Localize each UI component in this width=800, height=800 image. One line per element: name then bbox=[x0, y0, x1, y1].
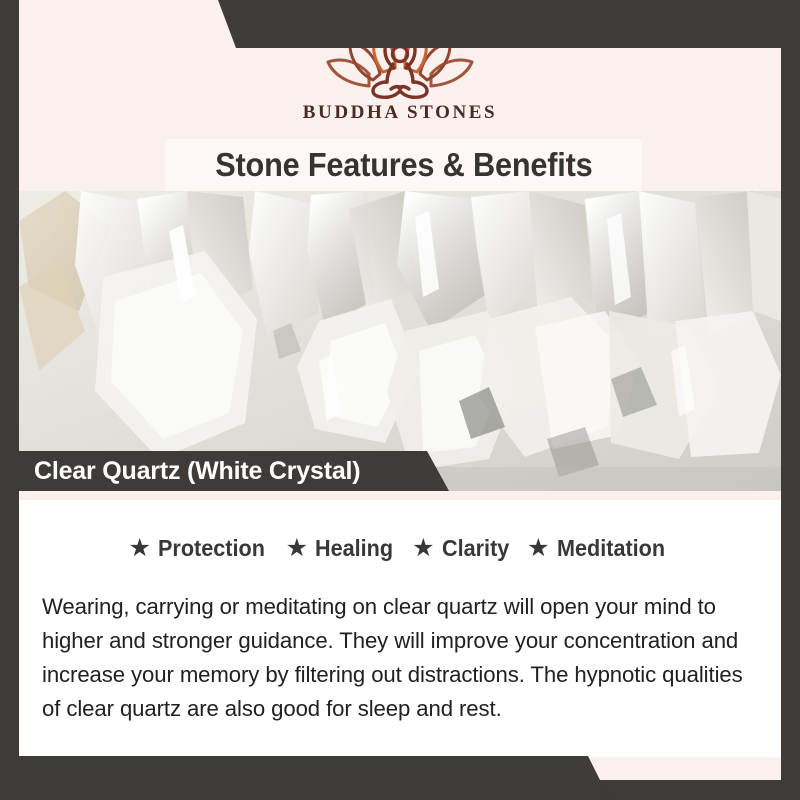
page-title: Stone Features & Benefits bbox=[215, 146, 592, 184]
benefit-label: Meditation bbox=[557, 535, 665, 562]
benefit-item-protection: ★ Protection bbox=[128, 535, 271, 562]
star-icon: ★ bbox=[412, 536, 434, 561]
brand-name: BUDDHA STONES bbox=[303, 102, 497, 124]
benefit-item-clarity: ★ Clarity bbox=[412, 535, 513, 562]
benefits-row: ★ Protection ★ Healing ★ Clarity ★ Medit… bbox=[42, 535, 758, 562]
crystal-photo bbox=[19, 191, 781, 491]
star-icon: ★ bbox=[527, 536, 549, 561]
description-text: Wearing, carrying or meditating on clear… bbox=[42, 590, 747, 726]
content-area: ★ Protection ★ Healing ★ Clarity ★ Medit… bbox=[19, 500, 781, 757]
crystal-photo-art bbox=[19, 191, 781, 491]
page-surface: BUDDHA STONES Stone Features & Benefits bbox=[19, 0, 781, 780]
star-icon: ★ bbox=[286, 536, 308, 561]
stone-name-label: Clear Quartz (White Crystal) bbox=[19, 457, 360, 486]
benefit-label: Healing bbox=[315, 535, 393, 562]
benefit-label: Protection bbox=[158, 535, 265, 562]
benefit-item-meditation: ★ Meditation bbox=[527, 535, 671, 562]
infographic-card: BUDDHA STONES Stone Features & Benefits bbox=[0, 0, 800, 800]
frame-right-edge bbox=[781, 0, 800, 800]
stone-name-ribbon: Clear Quartz (White Crystal) bbox=[19, 451, 449, 491]
benefit-item-healing: ★ Healing bbox=[286, 535, 399, 562]
star-icon: ★ bbox=[128, 536, 150, 561]
benefit-label: Clarity bbox=[442, 535, 509, 562]
title-banner: Stone Features & Benefits bbox=[165, 139, 642, 191]
frame-left-edge bbox=[0, 0, 19, 800]
